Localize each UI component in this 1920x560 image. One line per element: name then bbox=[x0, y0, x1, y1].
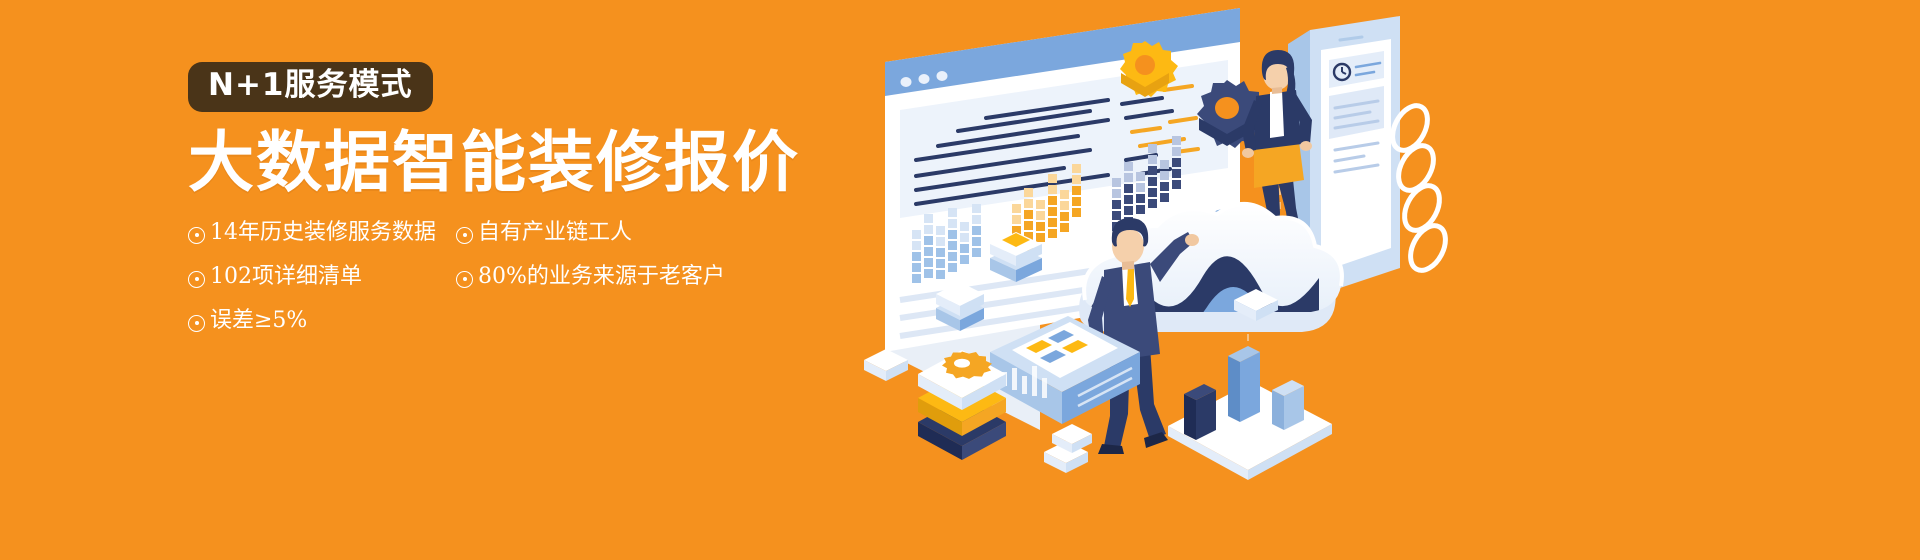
list-item: 14年历史装修服务数据 bbox=[188, 222, 456, 244]
list-item: 误差≥5% bbox=[188, 310, 456, 332]
list-item-label: 102项详细清单 bbox=[210, 266, 362, 288]
list-item-label: 14年历史装修服务数据 bbox=[210, 222, 436, 244]
promo-banner: N+1服务模式 大数据智能装修报价 14年历史装修服务数据 102项详细清单 误… bbox=[0, 0, 1920, 560]
list-item-label: 误差≥5% bbox=[210, 310, 307, 332]
list-item: 102项详细清单 bbox=[188, 266, 456, 288]
bullet-column-left: 14年历史装修服务数据 102项详细清单 误差≥5% bbox=[188, 222, 456, 354]
bar-column-group bbox=[1168, 346, 1332, 480]
list-item-label: 80%的业务来源于老客户 bbox=[478, 266, 725, 288]
service-mode-badge: N+1服务模式 bbox=[188, 62, 433, 112]
list-item: 自有产业链工人 bbox=[456, 222, 776, 244]
banner-text-block: N+1服务模式 大数据智能装修报价 14年历史装修服务数据 102项详细清单 误… bbox=[188, 62, 868, 354]
bullet-column-right: 自有产业链工人 80%的业务来源于老客户 bbox=[456, 222, 776, 354]
bullet-dot-icon bbox=[456, 271, 473, 288]
bullet-dot-icon bbox=[188, 227, 205, 244]
feature-bullet-list: 14年历史装修服务数据 102项详细清单 误差≥5% 自有产业链工人 bbox=[188, 222, 788, 354]
bullet-dot-icon bbox=[456, 227, 473, 244]
bullet-dot-icon bbox=[188, 315, 205, 332]
page-title: 大数据智能装修报价 bbox=[188, 130, 868, 196]
list-item-label: 自有产业链工人 bbox=[478, 222, 632, 244]
bullet-dot-icon bbox=[188, 271, 205, 288]
isometric-big-data-illustration bbox=[840, 0, 1920, 560]
list-item: 80%的业务来源于老客户 bbox=[456, 266, 776, 288]
